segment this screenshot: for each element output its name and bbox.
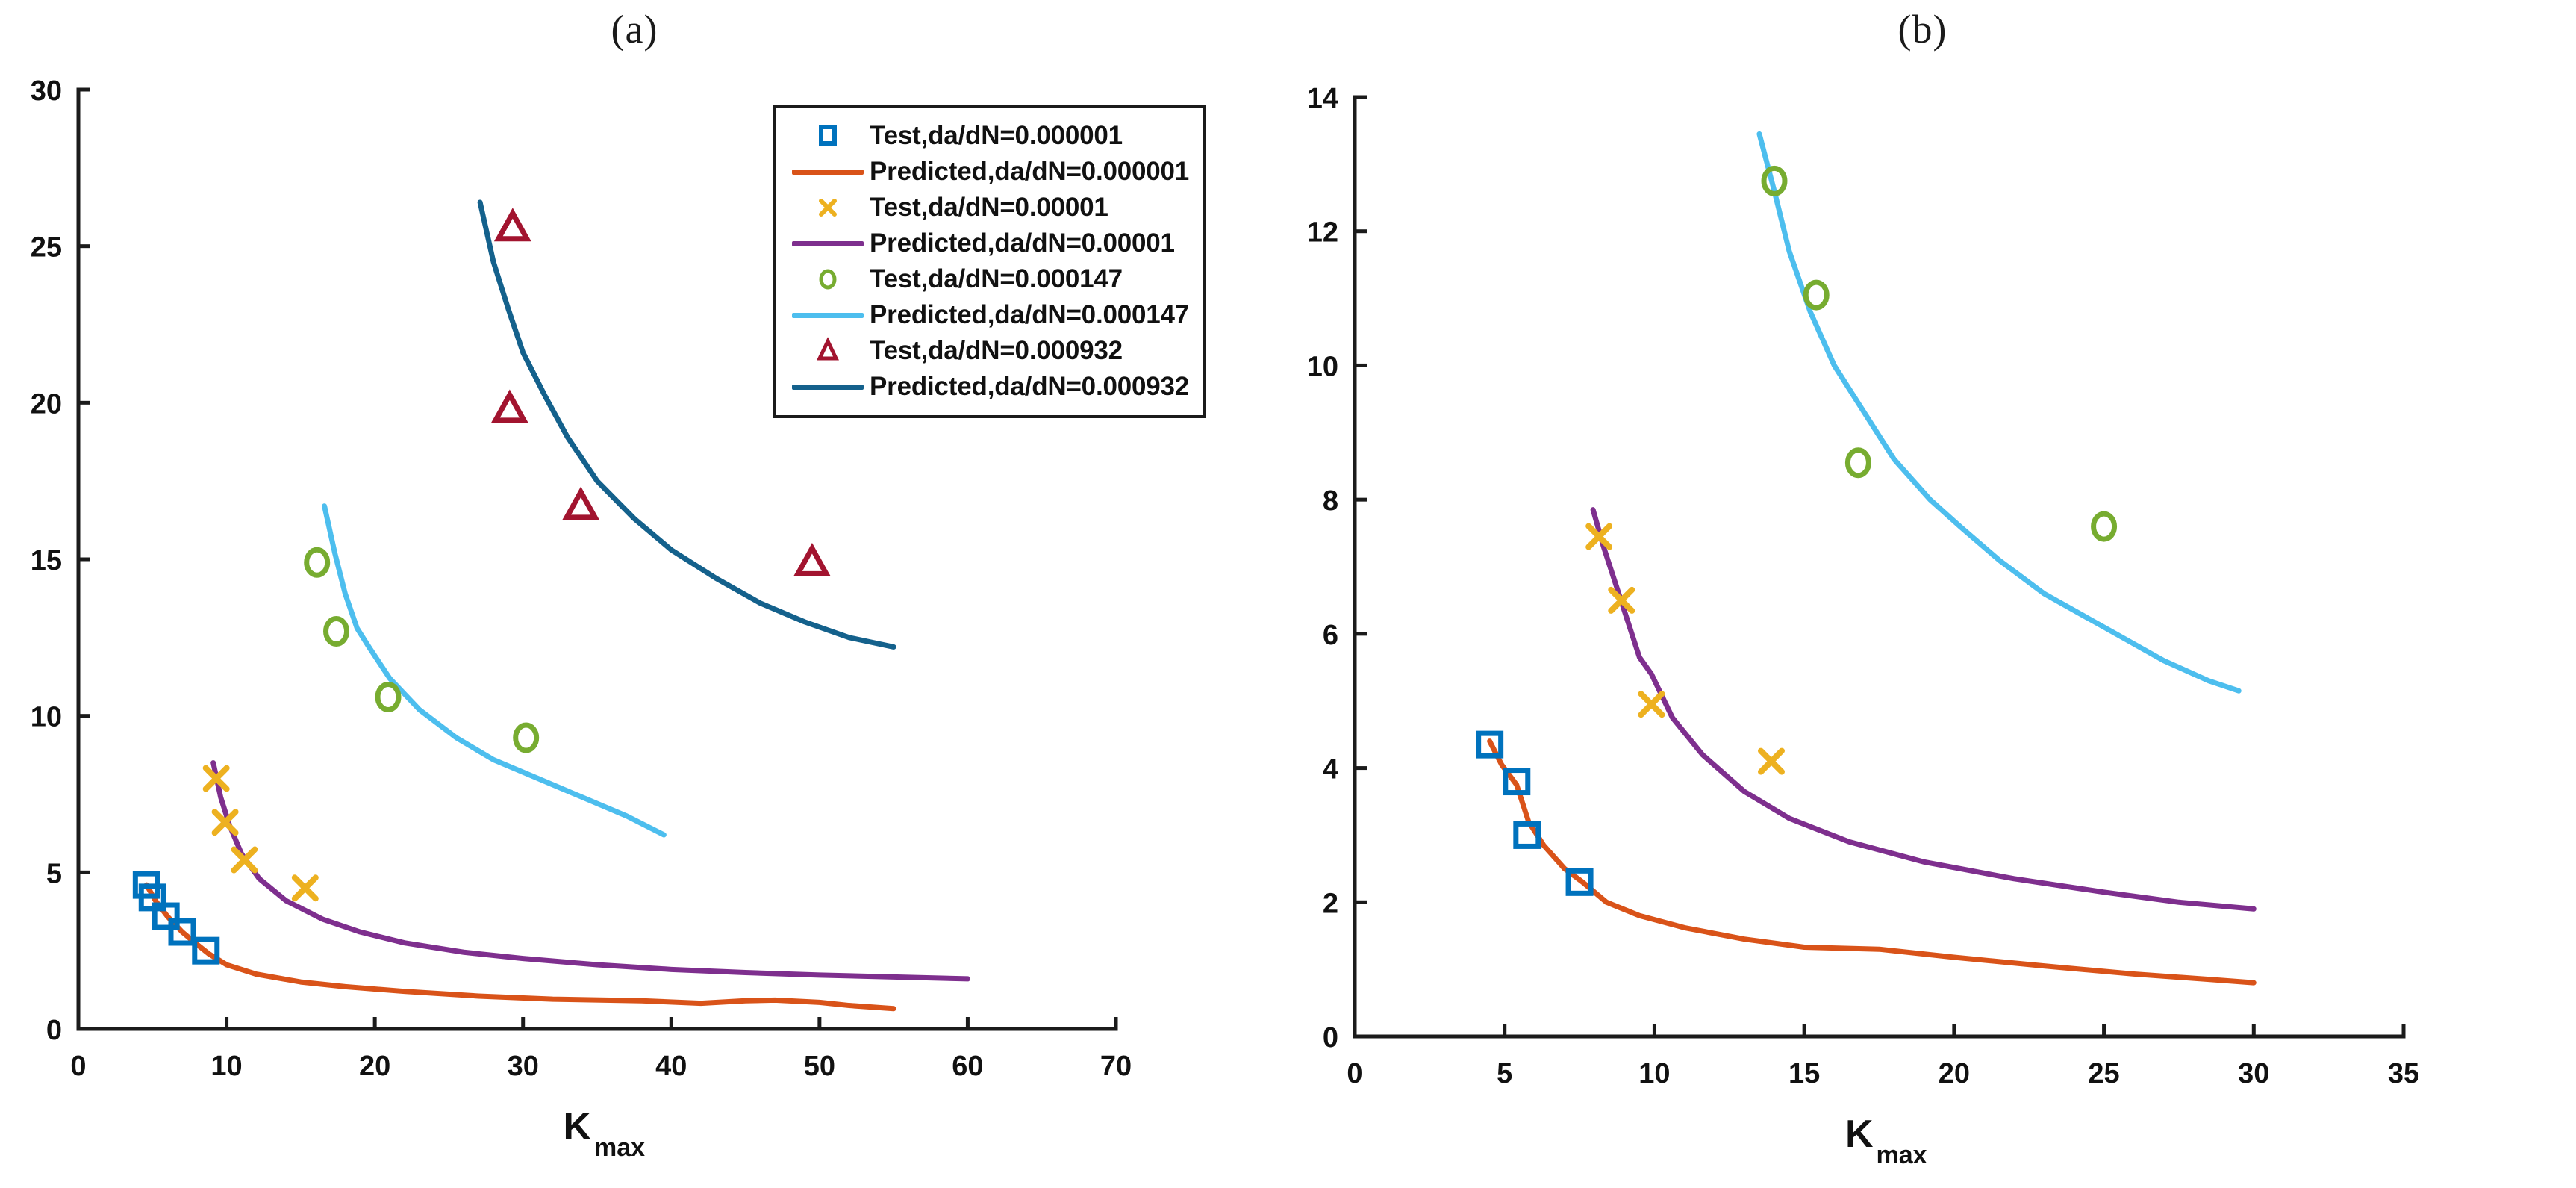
x-tick-label: 20: [1939, 1058, 1970, 1089]
series-line: [213, 763, 968, 979]
y-tick-label: 0: [1323, 1022, 1338, 1054]
x-axis-title: Kmax: [1845, 1113, 1927, 1169]
data-point-triangle: [798, 548, 826, 573]
x-tick-label: 35: [2388, 1058, 2419, 1089]
data-point-circle: [326, 618, 347, 644]
x-axis-title-subscript: max: [594, 1133, 645, 1162]
x-tick-label: 70: [1100, 1051, 1132, 1082]
legend-circle-icon: [786, 263, 870, 296]
legend-item-label: Test,da/dN=0.00001: [870, 193, 1108, 223]
data-point-x: [1641, 694, 1662, 715]
x-tick-label: 0: [70, 1051, 86, 1082]
series-line: [325, 506, 664, 835]
legend-triangle-icon: [786, 335, 870, 367]
legend-item-label: Predicted,da/dN=0.00001: [870, 228, 1175, 258]
data-point-triangle: [499, 214, 527, 239]
y-tick-label: 4: [1323, 754, 1338, 786]
y-tick-label: 10: [31, 702, 62, 733]
x-tick-label: 60: [952, 1051, 983, 1082]
y-tick-label: 0: [46, 1015, 62, 1046]
legend-item[interactable]: Test,da/dN=0.00001: [786, 190, 1189, 226]
x-tick-label: 10: [210, 1051, 242, 1082]
legend-item[interactable]: Predicted,da/dN=0.000932: [786, 369, 1189, 405]
series-line: [1593, 510, 2254, 909]
legend-line-icon: [786, 313, 870, 318]
data-point-circle: [1806, 282, 1827, 308]
legend-item-label: Predicted,da/dN=0.000147: [870, 300, 1189, 330]
x-tick-label: 0: [1347, 1058, 1362, 1089]
x-tick-label: 15: [1788, 1058, 1820, 1089]
panel-b-plot: 0246810121405101520253035ΔKKmax: [1269, 0, 2576, 1188]
legend-item-label: Test,da/dN=0.000147: [870, 264, 1123, 294]
legend-line-icon: [786, 241, 870, 246]
panel-b: (b) 0246810121405101520253035ΔKKmax Test…: [1269, 0, 2576, 1188]
data-layer: [1479, 134, 2254, 983]
legend-item[interactable]: Test,da/dN=0.000001: [786, 118, 1189, 154]
series-line: [1759, 134, 2239, 691]
legend-line-swatch: [792, 385, 864, 390]
legend-square-icon: [786, 119, 870, 152]
legend-item-label: Test,da/dN=0.000001: [870, 121, 1123, 151]
legend-line-swatch: [792, 313, 864, 318]
series-markers: [1764, 168, 2115, 539]
data-point-x: [1761, 751, 1782, 772]
legend-item[interactable]: Predicted,da/dN=0.00001: [786, 226, 1189, 261]
x-tick-label: 5: [1497, 1058, 1512, 1089]
data-point-triangle: [567, 492, 595, 517]
data-point-x: [295, 877, 316, 898]
y-tick-label: 14: [1307, 83, 1338, 114]
y-tick-label: 8: [1323, 485, 1338, 517]
legend-line-swatch: [792, 170, 864, 175]
x-tick-label: 20: [359, 1051, 390, 1082]
series-line: [146, 885, 894, 1009]
x-axis-title-main: K: [563, 1105, 591, 1148]
data-point-circle: [2094, 514, 2115, 539]
legend-line-icon: [786, 385, 870, 390]
data-point-circle: [378, 685, 399, 710]
y-tick-label: 15: [31, 545, 62, 576]
x-axis-title: Kmax: [563, 1105, 645, 1162]
y-tick-label: 25: [31, 232, 62, 264]
x-tick-label: 30: [2238, 1058, 2269, 1089]
legend-x-icon: [786, 191, 870, 224]
legend-item-label: Predicted,da/dN=0.000932: [870, 372, 1189, 402]
legend-item[interactable]: Test,da/dN=0.000147: [786, 261, 1189, 297]
legend-item[interactable]: Test,da/dN=0.000932: [786, 333, 1189, 369]
x-tick-label: 30: [508, 1051, 539, 1082]
legend-line-swatch: [792, 241, 864, 246]
y-tick-label: 12: [1307, 217, 1338, 249]
y-tick-label: 30: [31, 75, 62, 107]
legend-item[interactable]: Predicted,da/dN=0.000147: [786, 297, 1189, 333]
panel-a: (a) 051015202530010203040506070ΔKKmax Te…: [0, 0, 1269, 1188]
legend-item[interactable]: Predicted,da/dN=0.000001: [786, 154, 1189, 190]
x-tick-label: 40: [655, 1051, 687, 1082]
series-markers: [1479, 733, 1591, 893]
x-axis-title-main: K: [1845, 1113, 1874, 1156]
data-point-circle: [516, 725, 537, 750]
data-point-triangle: [496, 395, 524, 420]
y-tick-label: 2: [1323, 888, 1338, 919]
y-tick-label: 20: [31, 388, 62, 420]
x-axis-title-subscript: max: [1877, 1141, 1927, 1169]
legend-item-label: Test,da/dN=0.000932: [870, 336, 1123, 366]
y-tick-label: 10: [1307, 351, 1338, 382]
data-point-circle: [307, 550, 328, 575]
x-tick-label: 25: [2088, 1058, 2119, 1089]
legend-marker-swatch: [811, 335, 844, 367]
legend-line-icon: [786, 170, 870, 175]
data-point-x: [234, 850, 255, 871]
data-point-circle: [1847, 450, 1868, 476]
legend-marker-swatch: [811, 263, 844, 296]
legend-item-label: Predicted,da/dN=0.000001: [870, 157, 1189, 187]
figure-root: (a) 051015202530010203040506070ΔKKmax Te…: [0, 0, 2576, 1188]
y-tick-label: 5: [46, 858, 62, 889]
y-tick-label: 6: [1323, 620, 1338, 651]
legend-marker-swatch: [811, 191, 844, 224]
panel-a-legend: Test,da/dN=0.000001Predicted,da/dN=0.000…: [773, 105, 1206, 418]
legend-marker-swatch: [811, 119, 844, 152]
x-tick-label: 50: [804, 1051, 835, 1082]
x-tick-label: 10: [1638, 1058, 1670, 1089]
series-line: [1490, 741, 2254, 983]
